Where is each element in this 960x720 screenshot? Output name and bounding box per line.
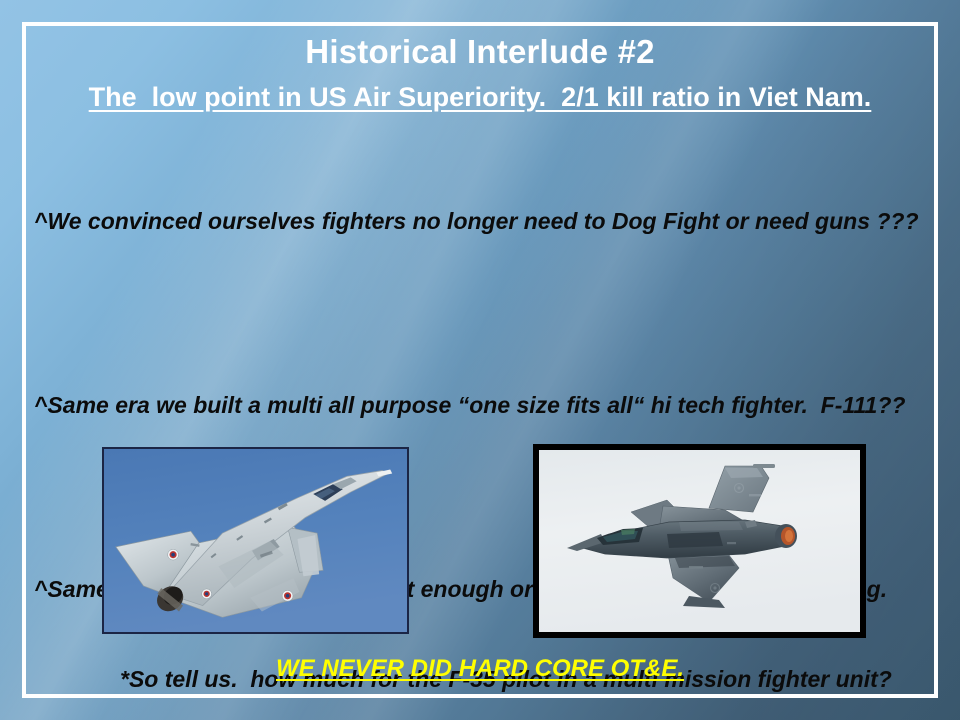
slide-subtitle-text: The low point in US Air Superiority. 2/1…	[89, 82, 872, 112]
body-spacer-1	[34, 296, 926, 330]
slide-footer-text: WE NEVER DID HARD CORE OT&E.	[276, 655, 684, 682]
slide-title: Historical Interlude #2	[0, 32, 960, 72]
slide-footer: WE NEVER DID HARD CORE OT&E.	[0, 655, 960, 683]
delta-wing-fighter-illustration	[104, 449, 407, 632]
slide-subtitle: The low point in US Air Superiority. 2/1…	[0, 80, 960, 114]
presentation-slide: Historical Interlude #2 The low point in…	[0, 0, 960, 720]
delta-wing-fighter-jet-photo	[102, 447, 409, 634]
body-line-1: ^We convinced ourselves fighters no long…	[34, 206, 926, 236]
canard-delta-fighter-illustration	[539, 450, 860, 632]
canard-delta-fighter-jet-photo	[533, 444, 866, 638]
body-line-2: ^Same era we built a multi all purpose “…	[34, 390, 926, 420]
